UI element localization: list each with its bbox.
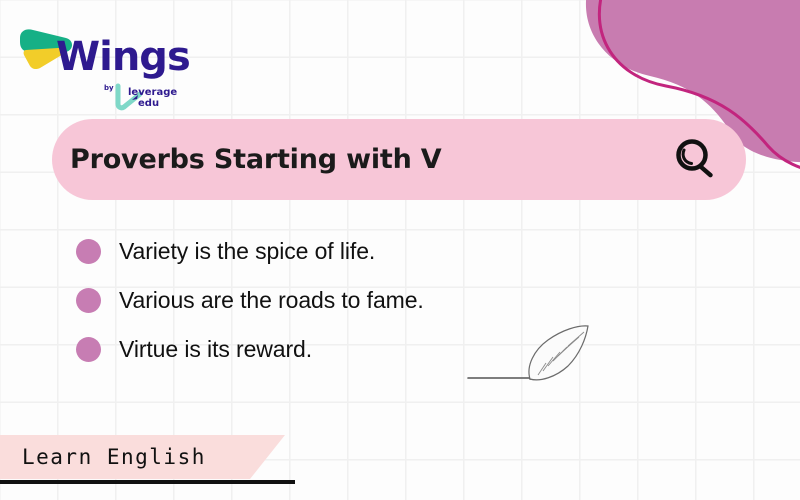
footer-label: Learn English [22,445,206,469]
list-item: Various are the roads to fame. [76,287,424,314]
page-title: Proverbs Starting with V [70,144,442,175]
sub-brand-line2: edu [138,98,159,109]
proverb-text: Virtue is its reward. [119,336,312,363]
proverb-list: Variety is the spice of life. Various ar… [76,238,424,363]
title-banner: Proverbs Starting with V [52,119,746,200]
bullet-icon [76,337,101,362]
footer-banner: Learn English [0,435,300,479]
bullet-icon [76,239,101,264]
slide-canvas: Wings by leverage edu Proverbs Starting … [0,0,800,500]
list-item: Virtue is its reward. [76,336,424,363]
byline-text: by [104,84,114,92]
magnifier-icon[interactable] [670,134,722,186]
list-item: Variety is the spice of life. [76,238,424,265]
footer-rule [0,480,295,484]
sub-brand-line1: leverage [128,87,177,98]
proverb-text: Various are the roads to fame. [119,287,424,314]
brand-logo: Wings by leverage edu [16,22,191,110]
bullet-icon [76,288,101,313]
wordmark-text: Wings [56,34,190,80]
proverb-text: Variety is the spice of life. [119,238,375,265]
